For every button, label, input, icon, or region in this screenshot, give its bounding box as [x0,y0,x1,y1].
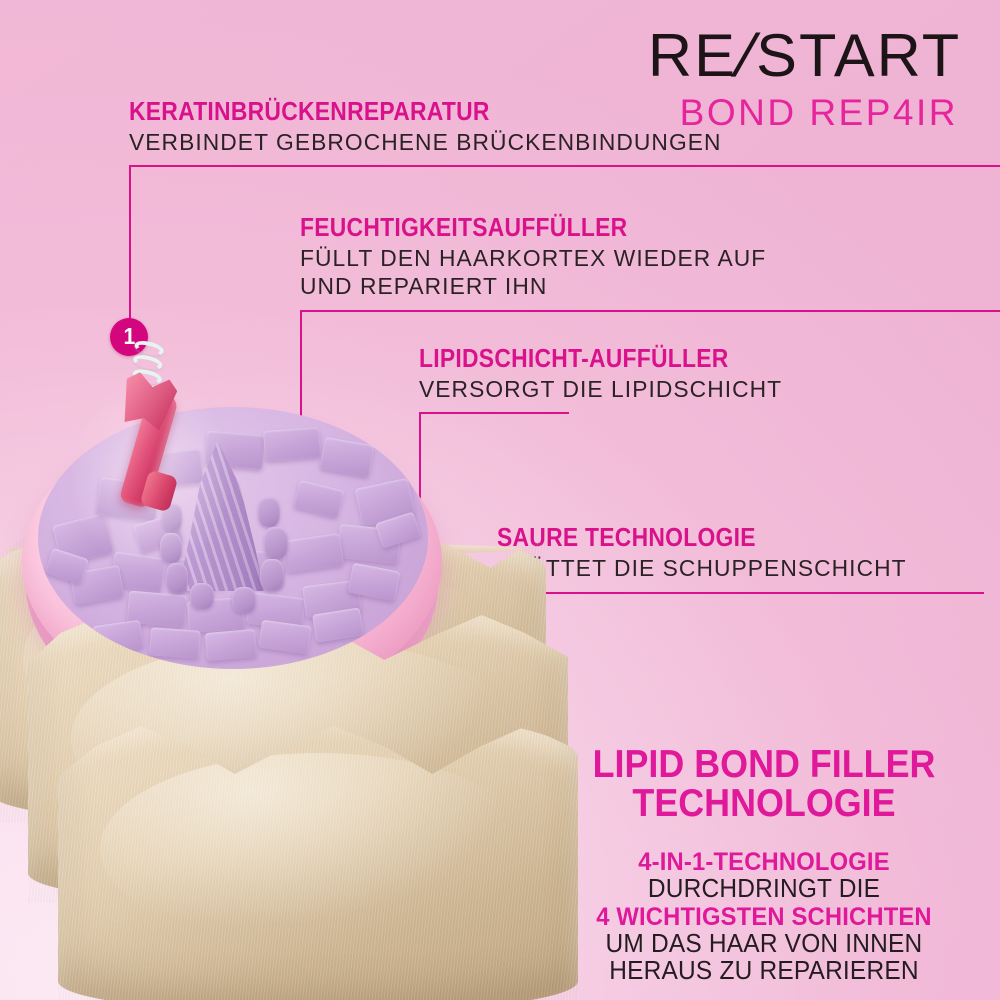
keratin-fibril [258,497,280,527]
cortex-cell [205,629,257,661]
cortex-cell [149,627,201,658]
callout-1-title: KERATINBRÜCKENREPARATUR [129,98,667,125]
callout-2-title: FEUCHTIGKEITSAUFFÜLLER [300,214,723,241]
keratin-bond-structure [88,345,238,535]
promo-body-line-5: HERAUS ZU REPARIEREN [582,958,947,986]
cortex-cell [293,480,344,518]
callout-3-desc-line-1: VERSORGT DIE LIPIDSCHICHT [419,375,782,404]
promo-heading-line-2: TECHNOLOGIE [589,785,939,824]
hair-cross-section-illustration [0,355,610,1000]
keratin-fibril [260,559,284,591]
callout-4: SAURE TECHNOLOGIE GLÄTTET DIE SCHUPPENSC… [497,524,919,582]
promo-body: 4-IN-1-TECHNOLOGIE DURCHDRINGT DIE 4 WIC… [574,849,954,986]
callout-2: FEUCHTIGKEITSAUFFÜLLER FÜLLT DEN HAARKOR… [300,214,781,301]
cortex-cell [320,437,375,477]
logo-restart-re: RE [648,22,737,89]
callout-1-desc-line-1: VERBINDET GEBROCHENE BRÜCKENBINDUNGEN [129,128,722,157]
promo-body-line-4: UM DAS HAAR VON INNEN [582,931,947,959]
keratin-fibril [190,583,214,609]
cuticle-highlight-3 [100,753,537,945]
callout-3-title: LIPIDSCHICHT-AUFFÜLLER [419,345,748,372]
callout-4-rule [497,592,984,594]
logo-restart-start: START [756,22,961,89]
keratin-fibril [232,587,256,613]
keratin-fibril [264,527,288,559]
callout-2-desc-line-2: UND REPARIERT IHN [300,272,766,301]
infographic-canvas: RE/START BOND REP4IR KERATINBRÜCKENREPAR… [0,0,1000,1000]
callout-4-desc-line-1: GLÄTTET DIE SCHUPPENSCHICHT [497,554,907,583]
cortex-cell [92,620,143,654]
logo-restart: RE/START [648,26,961,86]
promo-block: LIPID BOND FILLER TECHNOLOGIE 4-IN-1-TEC… [574,746,954,986]
promo-body-line-2: DURCHDRINGT DIE [582,876,947,904]
promo-body-line-1: 4-IN-1-TECHNOLOGIE [584,849,945,876]
cortex-cell [312,607,364,642]
callout-3-rule [419,412,569,414]
callout-1-leader-line [129,165,131,339]
promo-heading-line-1: LIPID BOND FILLER [589,746,939,785]
callout-2-desc-line-1: FÜLLT DEN HAARKORTEX WIEDER AUF [300,244,766,273]
callout-4-title: SAURE TECHNOLOGIE [497,524,869,551]
keratin-fibril [166,563,188,593]
cortex-cell [258,620,311,655]
callout-3: LIPIDSCHICHT-AUFFÜLLER VERSORGT DIE LIPI… [419,345,793,403]
callout-2-rule [300,310,1000,312]
promo-body-line-3: 4 WICHTIGSTEN SCHICHTEN [584,904,945,931]
callout-1-rule [129,165,1000,167]
keratin-fibril [160,533,182,563]
callout-1: KERATINBRÜCKENREPARATUR VERBINDET GEBROC… [129,98,740,156]
cuticle-layer-3 [58,711,578,1000]
